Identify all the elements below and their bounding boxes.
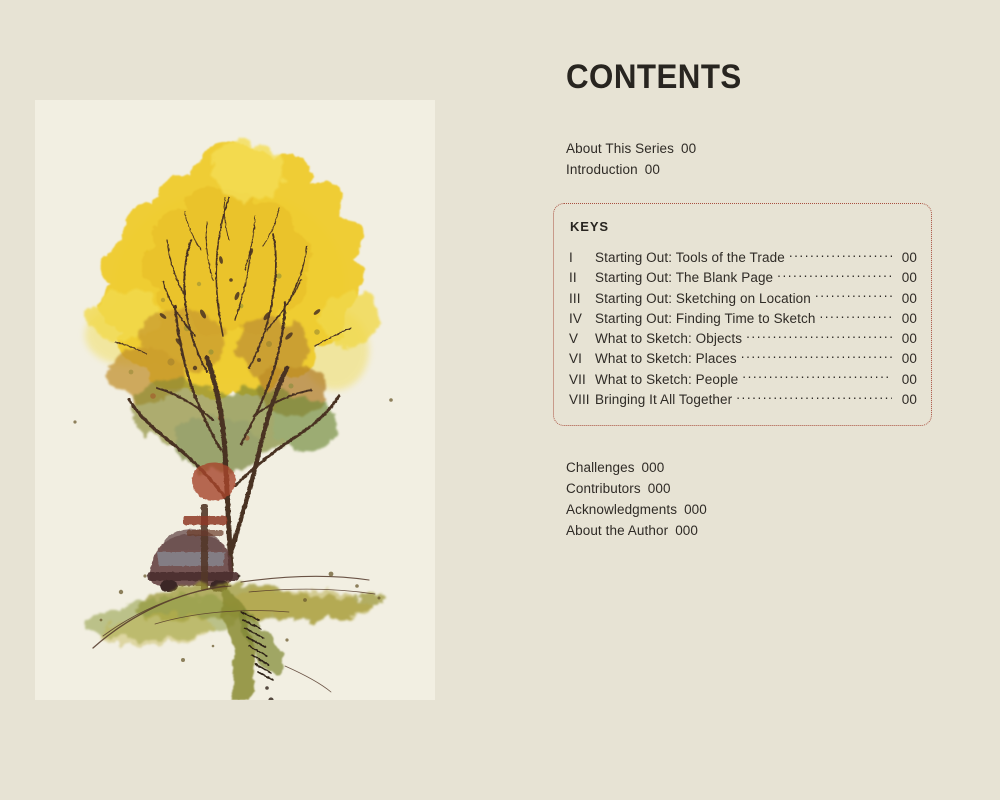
list-item[interactable]: I Starting Out: Tools of the Trade 00 [569,248,917,268]
back-matter-list: Challenges000 Contributors000 Acknowledg… [566,457,926,541]
entry-page: 00 [895,329,917,349]
entry-title: Starting Out: The Blank Page [595,268,773,288]
entry-numeral: VIII [569,390,595,410]
entry-numeral: IV [569,309,595,329]
entry-numeral: VII [569,370,595,390]
entry-label: Challenges [566,460,635,475]
entry-page: 000 [642,460,665,475]
entry-label: Contributors [566,481,641,496]
keys-entry-list: I Starting Out: Tools of the Trade 00 II… [569,248,917,410]
entry-title: What to Sketch: People [595,370,738,390]
entry-page: 000 [675,523,698,538]
list-item[interactable]: Acknowledgments000 [566,499,926,520]
entry-title: Starting Out: Finding Time to Sketch [595,309,815,329]
keys-heading: KEYS [570,219,609,234]
watercolor-tree-illustration [35,100,435,700]
entry-page: 000 [648,481,671,496]
entry-page: 00 [895,289,917,309]
entry-title: What to Sketch: Places [595,349,737,369]
list-item[interactable]: V What to Sketch: Objects 00 [569,329,917,349]
dot-leader [736,391,892,404]
keys-section-box: KEYS I Starting Out: Tools of the Trade … [553,203,932,426]
entry-numeral: I [569,248,595,268]
dot-leader [746,330,892,343]
entry-label: About This Series [566,141,674,156]
dot-leader [742,371,892,384]
entry-title: Bringing It All Together [595,390,732,410]
list-item[interactable]: VIII Bringing It All Together 00 [569,390,917,410]
entry-page: 00 [895,390,917,410]
dot-leader [815,290,892,303]
list-item[interactable]: About This Series00 [566,138,926,159]
entry-page: 00 [645,162,660,177]
list-item[interactable]: VII What to Sketch: People 00 [569,370,917,390]
list-item[interactable]: Contributors000 [566,478,926,499]
entry-title: Starting Out: Sketching on Location [595,289,811,309]
list-item[interactable]: VI What to Sketch: Places 00 [569,349,917,369]
list-item[interactable]: II Starting Out: The Blank Page 00 [569,268,917,288]
dot-leader [789,249,892,262]
list-item[interactable]: About the Author000 [566,520,926,541]
table-of-contents: CONTENTS About This Series00 Introductio… [553,0,953,800]
entry-numeral: III [569,289,595,309]
list-item[interactable]: IV Starting Out: Finding Time to Sketch … [569,309,917,329]
list-item[interactable]: Introduction00 [566,159,926,180]
entry-page: 00 [681,141,696,156]
entry-page: 00 [895,248,917,268]
entry-page: 00 [895,349,917,369]
entry-page: 000 [684,502,707,517]
entry-numeral: VI [569,349,595,369]
book-contents-spread: CONTENTS About This Series00 Introductio… [0,0,1000,800]
front-matter-list: About This Series00 Introduction00 [566,138,926,180]
entry-numeral: V [569,329,595,349]
entry-numeral: II [569,268,595,288]
entry-page: 00 [895,370,917,390]
dot-leader [819,310,892,323]
illustration-pane [0,0,500,800]
dot-leader [777,269,892,282]
list-item[interactable]: III Starting Out: Sketching on Location … [569,289,917,309]
entry-label: Acknowledgments [566,502,677,517]
page-title: CONTENTS [566,58,742,97]
entry-label: Introduction [566,162,638,177]
list-item[interactable]: Challenges000 [566,457,926,478]
entry-page: 00 [895,309,917,329]
entry-title: What to Sketch: Objects [595,329,742,349]
dot-leader [741,350,892,363]
entry-label: About the Author [566,523,668,538]
entry-page: 00 [895,268,917,288]
entry-title: Starting Out: Tools of the Trade [595,248,785,268]
